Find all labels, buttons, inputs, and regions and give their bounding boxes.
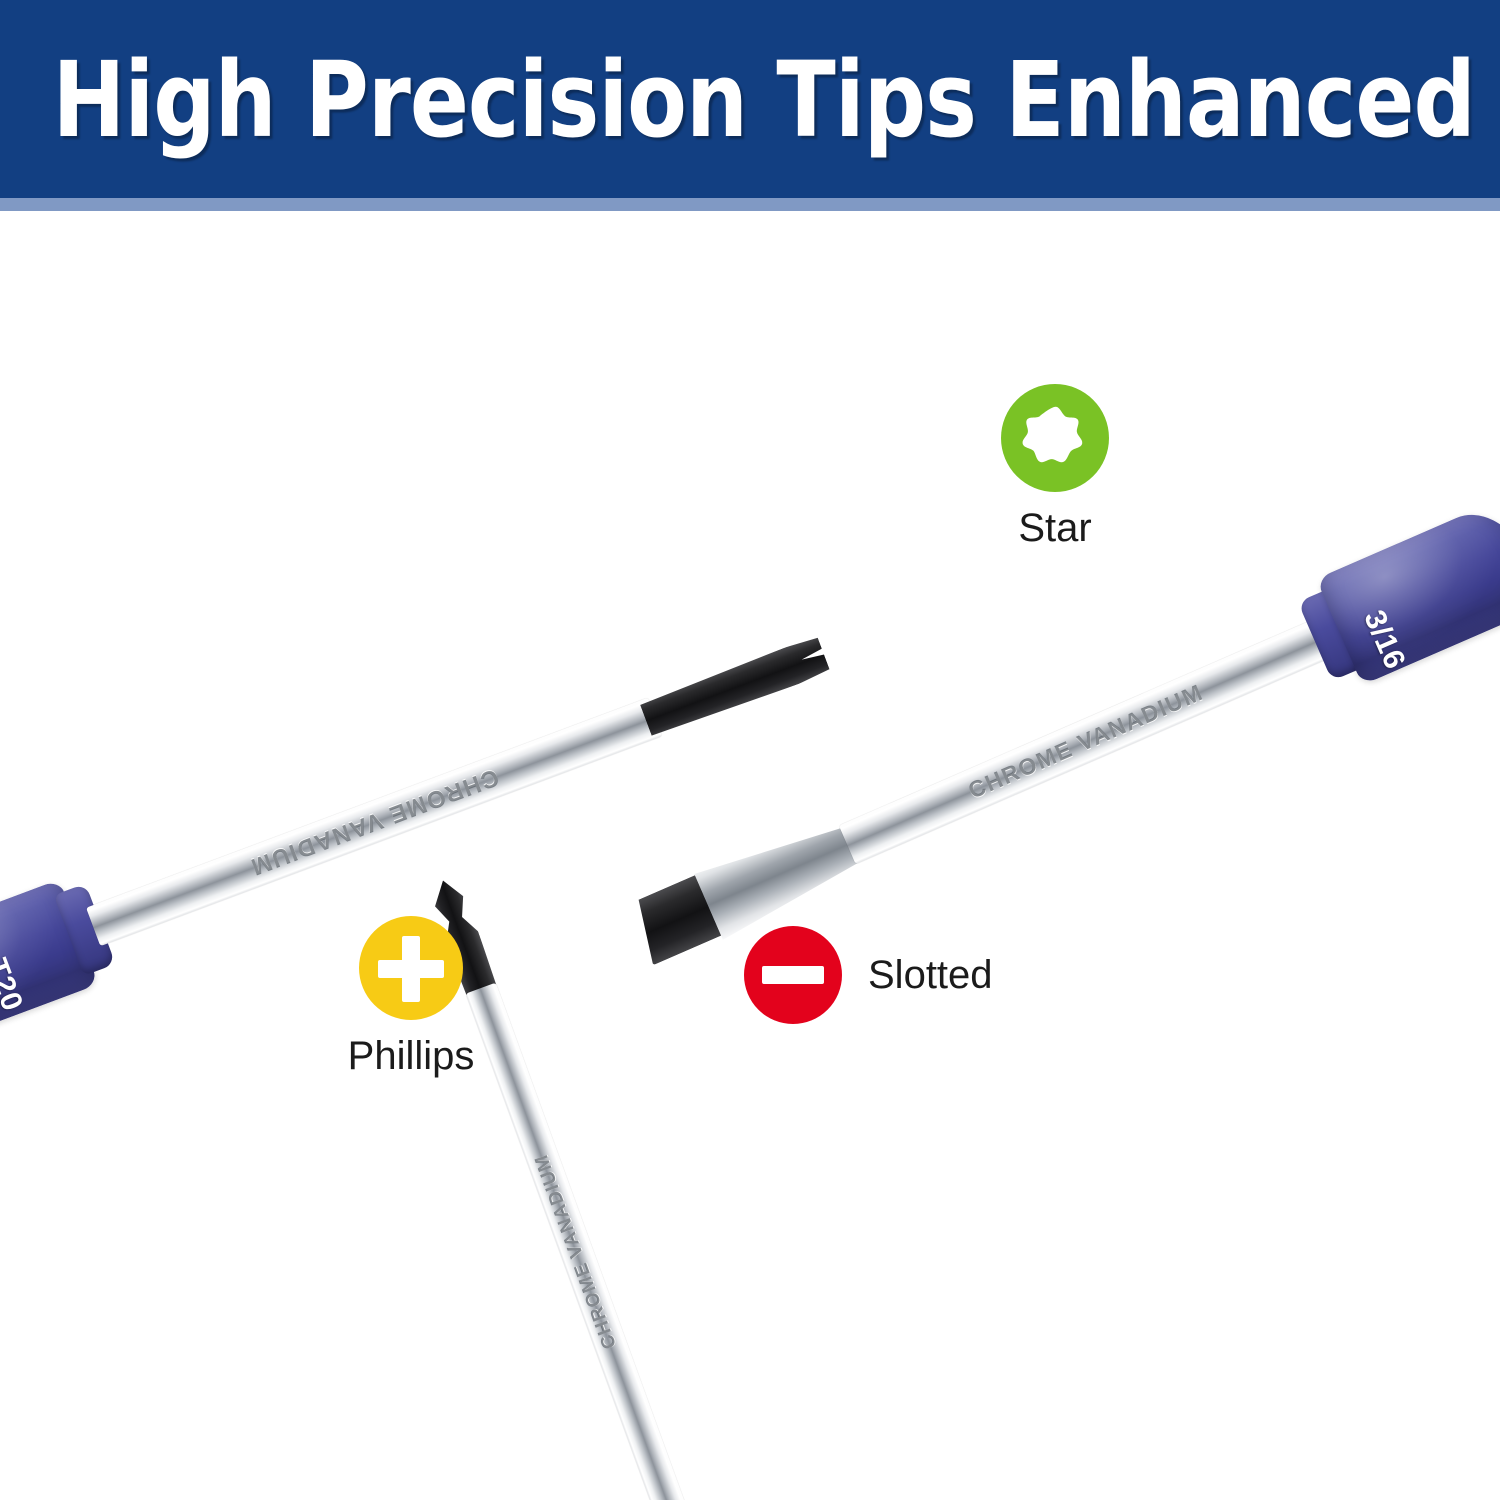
badge-star: Star: [962, 384, 1148, 551]
torx-tip: [639, 636, 831, 739]
torx-shank-engraving: CHROME VANADIUM: [86, 698, 662, 947]
phillips-badge-circle: [359, 916, 463, 1020]
badge-phillips: Phillips: [318, 916, 504, 1079]
plus-cross-icon-vertical: [402, 936, 420, 1002]
slotted-badge-label: Slotted: [868, 953, 993, 998]
torx-star-icon: [1019, 402, 1091, 474]
star-badge-label: Star: [1018, 506, 1091, 551]
slotted-shank-engraving: CHROME VANADIUM: [839, 618, 1333, 864]
star-badge-circle: [1001, 384, 1109, 492]
slotted-badge-circle: [744, 926, 842, 1024]
phillips-badge-label: Phillips: [348, 1034, 475, 1079]
minus-bar-icon: [762, 966, 824, 984]
badge-slotted: Slotted: [744, 926, 993, 1024]
page-title: High Precision Tips Enhanced Friction: [53, 34, 1448, 166]
header-banner-underline: [0, 198, 1500, 211]
slotted-shank: CHROME VANADIUM: [839, 618, 1333, 864]
product-feature-image: High Precision Tips Enhanced Friction T2…: [0, 0, 1500, 1500]
torx-shank: CHROME VANADIUM: [86, 698, 662, 947]
